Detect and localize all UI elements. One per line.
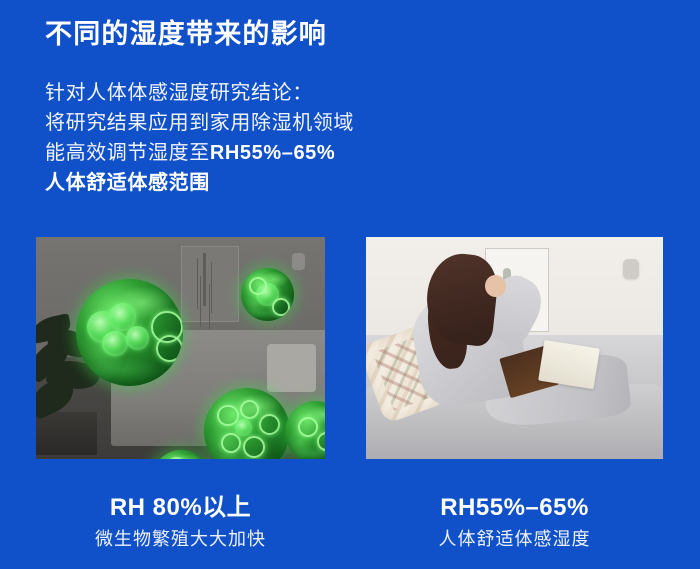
microbe-cell <box>235 419 252 436</box>
caption-comfort-humidity: RH55%–65% 人体舒适体感湿度 <box>366 492 663 552</box>
panel-captions: RH 80%以上 微生物繁殖大大加快 RH55%–65% 人体舒适体感湿度 <box>0 492 700 569</box>
lede-paragraph: 针对人体体感湿度研究结论： 将研究结果应用到家用除湿机领域 能高效调节湿度至RH… <box>45 78 565 198</box>
lede-line-3: 能高效调节湿度至RH55%–65% <box>45 138 565 168</box>
infographic-slide: 不同的湿度带来的影响 针对人体体感湿度研究结论： 将研究结果应用到家用除湿机领域… <box>0 0 700 569</box>
microbe-ring <box>240 400 259 419</box>
lede-line-4: 人体舒适体感范围 <box>45 168 565 198</box>
caption-subtitle: 微生物繁殖大大加快 <box>36 526 325 552</box>
microbe-cell <box>102 331 128 357</box>
caption-high-humidity: RH 80%以上 微生物繁殖大大加快 <box>36 492 325 552</box>
microbe-ring <box>272 298 290 316</box>
plant-pot <box>36 412 97 455</box>
microbe-ring <box>298 417 318 437</box>
lede-line-2: 将研究结果应用到家用除湿机领域 <box>45 108 565 138</box>
lede-line-1: 针对人体体感湿度研究结论： <box>45 78 565 108</box>
microbe-ring <box>167 457 186 459</box>
microbe-ring <box>317 432 325 451</box>
microbe-ring <box>156 335 184 363</box>
bright-room-scene <box>366 237 663 459</box>
woman-reading-figure <box>402 250 634 436</box>
page-title: 不同的湿度带来的影响 <box>45 16 327 52</box>
microbe-sphere-bottom <box>152 450 210 459</box>
wall-sensor-icon <box>292 253 305 270</box>
panel-high-humidity-image <box>36 237 325 459</box>
caption-title: RH55%–65% <box>366 492 663 524</box>
caption-title: RH 80%以上 <box>36 492 325 524</box>
comparison-panels <box>0 237 700 459</box>
caption-subtitle: 人体舒适体感湿度 <box>366 526 663 552</box>
book-pages <box>538 339 599 388</box>
lede-humidity-range: RH55%–65% <box>210 142 335 164</box>
microbe-sphere-medium <box>204 388 290 459</box>
sofa-cushion <box>267 344 316 393</box>
lede-line-3-prefix: 能高效调节湿度至 <box>45 142 210 164</box>
microbe-ring <box>243 436 265 458</box>
panel-comfort-humidity-image <box>366 237 663 459</box>
wall-art-frame <box>181 246 239 322</box>
microbe-ring <box>259 414 280 435</box>
microbe-cell <box>126 326 150 350</box>
microbe-sphere-large <box>76 279 183 386</box>
microbe-sphere-edge <box>285 401 325 459</box>
dark-room-scene <box>36 237 325 459</box>
microbe-sphere-small <box>241 268 294 321</box>
microbe-ring <box>221 433 241 453</box>
person-hand <box>485 275 506 297</box>
